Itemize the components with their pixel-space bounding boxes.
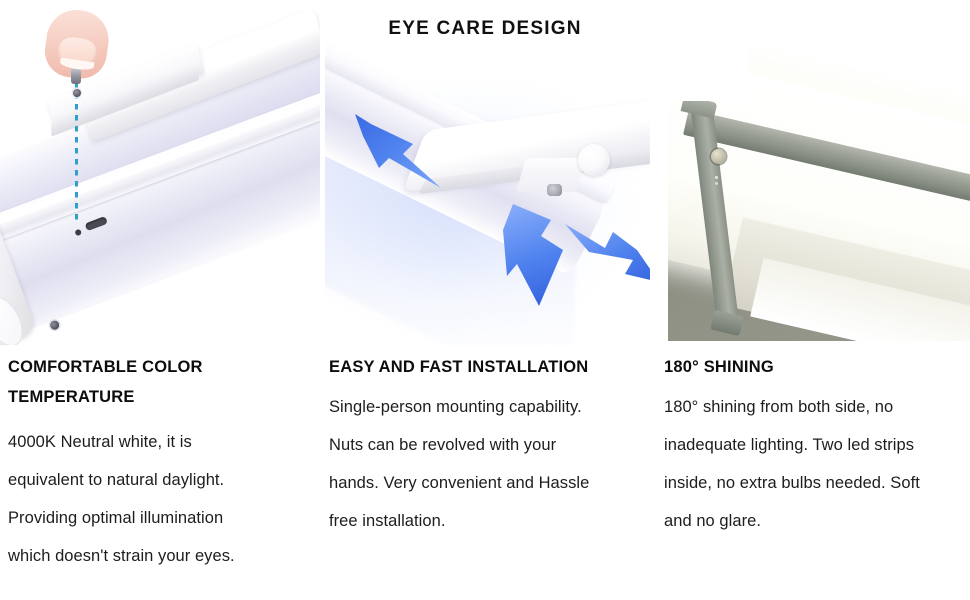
illustration-canvas: [325, 10, 650, 345]
photo-canvas: [660, 10, 970, 345]
bracket-screw: [547, 184, 562, 196]
led-fixture-light-spread-arrows-illustration: [325, 10, 650, 345]
mounting-screw: [71, 68, 81, 84]
feature-heading: COMFORTABLE COLOR TEMPERATURE: [8, 352, 203, 412]
photo-upper-white-area: [668, 31, 748, 101]
illustration-canvas: [0, 10, 320, 345]
led-fixture-bracket-alignment-illustration: [0, 10, 320, 345]
bracket-mounting-hole: [73, 89, 81, 97]
feature-heading: 180° SHINING: [664, 352, 774, 382]
bracket-bolt: [711, 149, 726, 164]
feature-body-text: Single-person mounting capability. Nuts …: [329, 388, 649, 540]
feature-heading: EASY AND FAST INSTALLATION: [329, 352, 588, 382]
photo-frame: [668, 31, 970, 341]
led-strips-photo: [660, 10, 970, 345]
feature-column-easy-and-fast-installation: EASY AND FAST INSTALLATION Single-person…: [325, 0, 650, 600]
fixture-mounting-hole: [49, 319, 61, 331]
light-direction-arrow-down-right: [561, 208, 650, 298]
alignment-dashed-line: [75, 82, 78, 224]
bracket-vent-holes: [715, 176, 718, 179]
feature-columns: COMFORTABLE COLOR TEMPERATURE 4000K Neut…: [0, 0, 970, 600]
thumb-nut-knob: [578, 144, 610, 176]
page-title: EYE CARE DESIGN: [0, 18, 970, 40]
feature-column-180-degree-shining: 180° SHINING 180° shining from both side…: [660, 0, 970, 600]
feature-column-comfortable-color-temperature: COMFORTABLE COLOR TEMPERATURE 4000K Neut…: [0, 0, 320, 600]
feature-body-text: 4000K Neutral white, it is equivalent to…: [8, 423, 308, 575]
feature-body-text: 180° shining from both side, no inadequa…: [664, 388, 969, 540]
light-direction-arrow-up-left: [333, 102, 443, 190]
